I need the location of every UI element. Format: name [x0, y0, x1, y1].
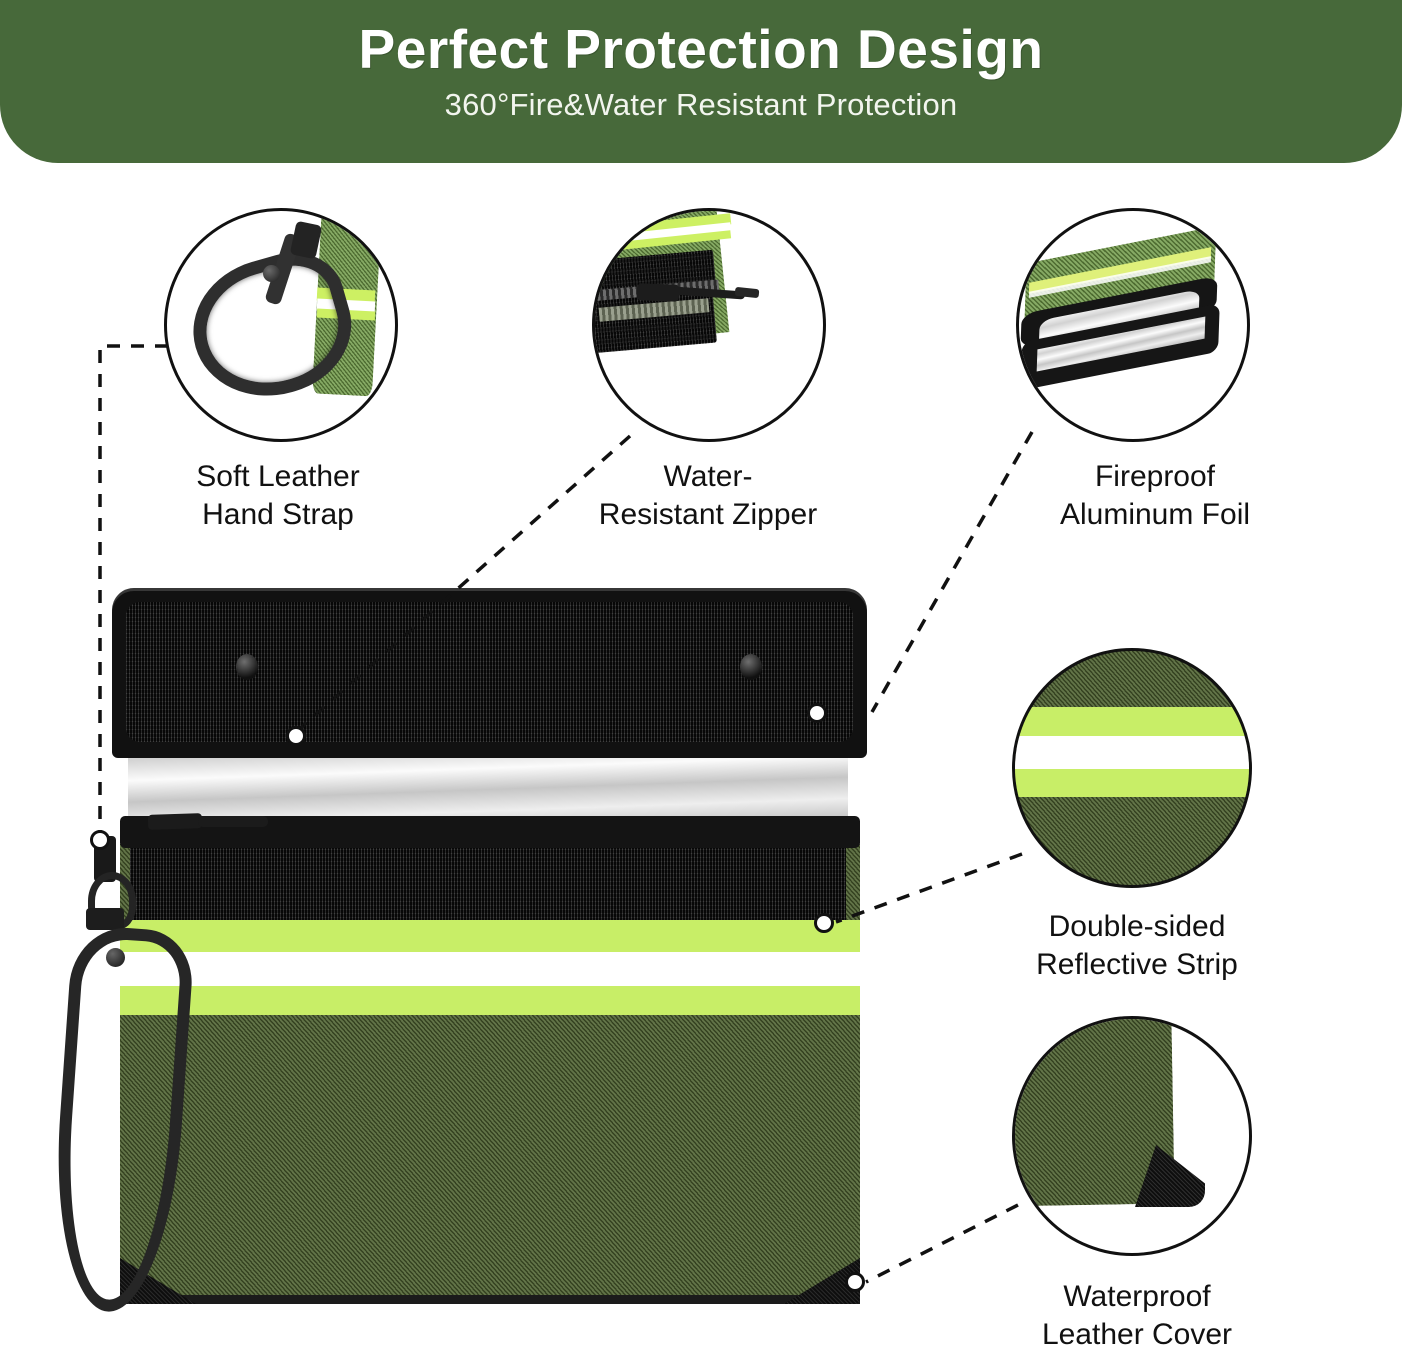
strap-snap-button	[106, 948, 125, 967]
bag-reflective-white	[120, 952, 860, 986]
marker-leather-cover	[845, 1272, 865, 1292]
callout-label-foil: Fireproof Aluminum Foil	[990, 458, 1320, 535]
aluminum-foil-photo	[1016, 208, 1250, 442]
snap-button-right	[740, 654, 762, 680]
wrist-strap	[66, 836, 186, 1306]
strip-green-upper	[1015, 707, 1249, 736]
page-title: Perfect Protection Design	[359, 18, 1044, 81]
marker-zipper	[286, 726, 306, 746]
header-banner: Perfect Protection Design 360°Fire&Water…	[0, 0, 1402, 163]
callout-label-leather-cover: Waterproof Leather Cover	[972, 1278, 1302, 1355]
connector-leather-cover	[866, 1205, 1018, 1282]
marker-hand-strap	[90, 830, 110, 850]
strip-white-center	[1015, 736, 1249, 769]
zipper-pull-tab	[198, 816, 268, 827]
marker-foil	[807, 703, 827, 723]
strap-clip-body	[86, 908, 124, 930]
strap-clip-hardware	[290, 221, 323, 260]
zipper-photo	[592, 208, 826, 442]
callout-label-zipper: Water- Resistant Zipper	[548, 458, 868, 535]
zipper-slider	[148, 813, 202, 830]
snap-button-left	[236, 654, 258, 680]
reflective-strip-photo	[1012, 648, 1252, 888]
bag-bottom-edge	[120, 1295, 860, 1304]
strap-loop	[47, 924, 195, 1316]
page-subtitle: 360°Fire&Water Resistant Protection	[445, 87, 958, 123]
bag-reflective-green-lower	[120, 986, 860, 1015]
hand-strap-photo	[164, 208, 398, 442]
product-bag	[112, 588, 867, 1304]
callout-label-hand-strap: Soft Leather Hand Strap	[108, 458, 448, 535]
strip-green-lower	[1015, 769, 1249, 797]
marker-reflective-strip	[814, 913, 834, 933]
leather-cover-photo	[1012, 1016, 1252, 1256]
strap-snap-button	[263, 265, 280, 282]
callout-label-reflective-strip: Double-sided Reflective Strip	[972, 908, 1302, 985]
bag-reflective-green-upper	[120, 920, 860, 952]
